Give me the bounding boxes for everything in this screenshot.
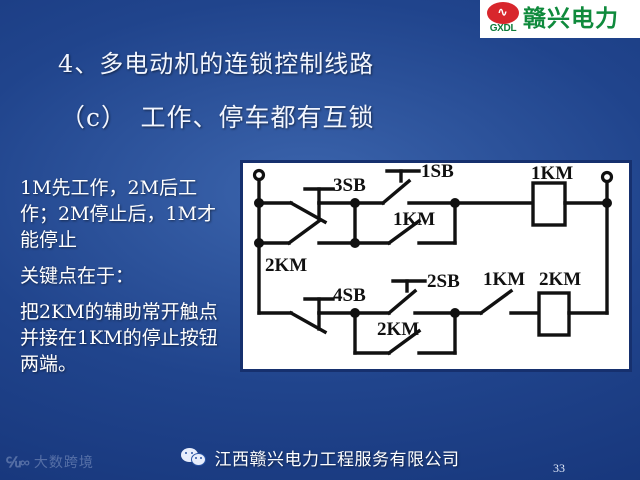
terminal-left-top	[255, 171, 264, 180]
junction-r1-right	[450, 198, 460, 208]
coil-2km	[539, 293, 569, 335]
junction-left-r1	[254, 198, 264, 208]
junction-rail-r1	[602, 198, 612, 208]
coil-1km	[533, 183, 565, 225]
slide-footer: 江西赣兴电力工程服务有限公司	[0, 434, 640, 480]
contact-2sb-blade	[389, 291, 415, 313]
label-2sb: 2SB	[427, 271, 460, 292]
junction-left-r2	[254, 238, 264, 248]
label-2km-coil: 2KM	[539, 269, 581, 290]
label-1km-coil: 1KM	[531, 163, 573, 184]
label-1km-hold: 1KM	[393, 209, 435, 230]
page-number: 33	[553, 461, 565, 476]
contact-1km-interlock-blade	[481, 291, 511, 313]
terminal-right-top	[603, 173, 612, 182]
label-1km-interlock: 1KM	[483, 269, 525, 290]
logo-emblem-icon: ∿ GXDL	[486, 2, 520, 36]
watermark-text: 大数跨境	[34, 452, 94, 472]
body-text-column: 1M先工作，2M后工作；2M停止后，1M才能停止 关键点在于： 把2KM的辅助常…	[20, 175, 235, 389]
circuit-diagram-svg: 3SB 1SB 1KM 1KM 2KM 4SB 2SB 2KM 1KM 2KM	[243, 163, 629, 369]
slide-heading-main: 4、多电动机的连锁控制线路	[58, 44, 374, 79]
slide-heading-sub: （c） 工作、停车都有互锁	[60, 98, 375, 134]
junction-r2-mid	[350, 308, 360, 318]
label-2km-contact: 2KM	[265, 255, 307, 276]
circuit-diagram: 3SB 1SB 1KM 1KM 2KM 4SB 2SB 2KM 1KM 2KM	[240, 160, 632, 372]
logo-abbrev: GXDL	[486, 23, 520, 34]
label-1sb: 1SB	[421, 163, 454, 182]
brand-logo: ∿ GXDL 赣兴电力	[480, 0, 640, 38]
logo-company-short: 赣兴电力	[523, 2, 619, 36]
junction-r1-mid	[350, 198, 360, 208]
body-paragraph-3: 把2KM的辅助常开触点并接在1KM的停止按钮两端。	[20, 299, 235, 377]
label-2km-hold: 2KM	[377, 319, 419, 340]
footer-company-name: 江西赣兴电力工程服务有限公司	[215, 445, 460, 470]
junction-hold1	[350, 238, 360, 248]
watermark-logo-icon: ℆∞	[6, 454, 29, 471]
slide-canvas: ∿ GXDL 赣兴电力 4、多电动机的连锁控制线路 （c） 工作、停车都有互锁 …	[0, 0, 640, 480]
logo-swirl-glyph: ∿	[493, 5, 512, 20]
body-paragraph-1: 1M先工作，2M后工作；2M停止后，1M才能停止	[20, 175, 235, 253]
contact-1sb-blade	[383, 181, 409, 203]
contact-2km-aux-blade	[289, 221, 319, 243]
body-paragraph-2: 关键点在于：	[20, 263, 235, 289]
watermark: ℆∞ 大数跨境	[6, 452, 94, 472]
label-4sb: 4SB	[333, 285, 366, 306]
label-3sb: 3SB	[333, 175, 366, 196]
junction-r2-right	[450, 308, 460, 318]
wechat-icon	[181, 447, 207, 468]
